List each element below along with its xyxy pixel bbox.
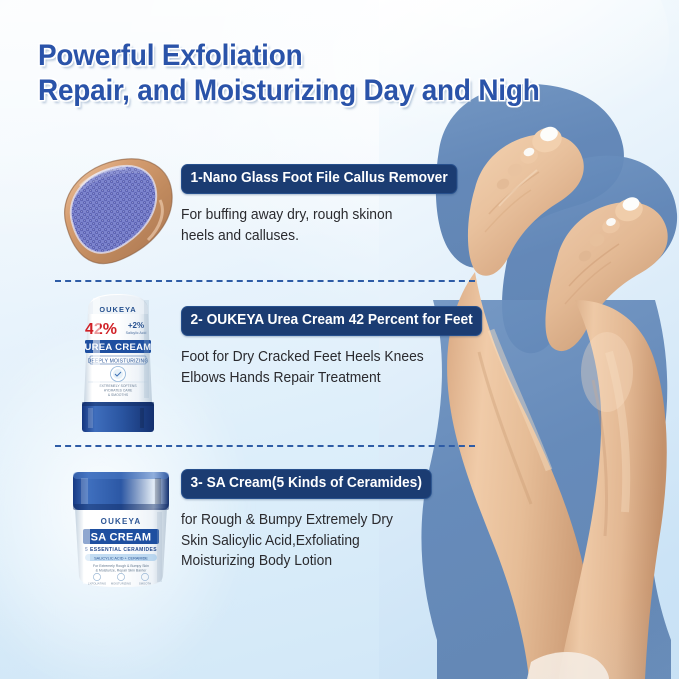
product-3-copy: 3- SA Cream(5 Kinds of Ceramides) for Ro… [181,469,445,572]
jar-claim-1: For Extremely Rough & Bumpy Skin [92,564,148,568]
page-title-line-2: Repair, and Moisturizing Day and Nigh [38,73,522,108]
product-3-description-line-3: Moisturizing Body Lotion [181,551,431,572]
jar-feature-1: EXFOLIATING [87,582,105,586]
product-1-title-badge[interactable]: 1-Nano Glass Foot File Callus Remover [181,164,457,194]
nano-glass-foot-file-image [55,152,175,272]
product-block-3: OUKEYA SA CREAM 5 ESSENTIAL CERAMIDES SA… [0,455,500,600]
tube-percent-plus-sub: Salicylic Acid [125,331,146,335]
jar-feature-3: SMOOTH [138,582,150,586]
tube-percent-plus: +2% [127,321,143,330]
product-1-description-line-1: For buffing away dry, rough skinon [181,205,457,226]
product-block-2: OUKEYA 42% +2% Salicylic Acid UREA CREAM… [0,290,500,435]
page-title: Powerful Exfoliation Repair, and Moistur… [38,38,522,108]
product-2-description-line-1: Foot for Dry Cracked Feet Heels Knees [181,347,482,368]
sa-cream-jar-image: OUKEYA SA CREAM 5 ESSENTIAL CERAMIDES SA… [58,463,183,593]
product-1-description: For buffing away dry, rough skinon heels… [181,205,457,246]
product-infographic: Powerful Exfoliation Repair, and Moistur… [0,0,679,679]
jar-product-name: SA CREAM [90,532,151,544]
tube-claim-3: & SMOOTHS [107,393,128,397]
tube-claim-1: EXTREMELY SOFTENS [99,384,137,388]
divider-1 [55,280,475,282]
jar-subtitle: 5 ESSENTIAL CERAMIDES [85,547,157,553]
jar-banner-text: SALICYLIC ACID + CERAMIDE [94,556,148,560]
product-3-title-badge[interactable]: 3- SA Cream(5 Kinds of Ceramides) [181,469,431,499]
product-1-copy: 1-Nano Glass Foot File Callus Remover Fo… [181,164,472,246]
page-title-line-1: Powerful Exfoliation [38,38,522,73]
jar-brand-text: OUKEYA [100,517,141,526]
product-2-description-line-2: Elbows Hands Repair Treatment [181,368,482,389]
product-3-description-line-2: Skin Salicylic Acid,Exfoliating [181,531,431,552]
urea-cream-tube-image: OUKEYA 42% +2% Salicylic Acid UREA CREAM… [60,290,175,435]
jar-claim-2: & Moisturize, Repair Skin Barrier [95,569,147,573]
product-3-description-line-1: for Rough & Bumpy Extremely Dry [181,510,431,531]
tube-brand-text: OUKEYA [99,305,136,314]
tube-claim-2: HYDRATES CARE [103,389,132,393]
product-1-description-line-2: heels and calluses. [181,226,457,247]
tube-percent-main: 42% [84,321,116,338]
divider-2 [55,445,475,447]
product-2-description: Foot for Dry Cracked Feet Heels Knees El… [181,347,482,388]
jar-feature-2: MOISTURIZING [110,582,130,586]
product-block-1: 1-Nano Glass Foot File Callus Remover Fo… [0,150,500,275]
product-2-copy: 2- OUKEYA Urea Cream 42 Percent for Feet… [181,306,498,388]
product-3-description: for Rough & Bumpy Extremely Dry Skin Sal… [181,510,431,572]
product-2-title-badge[interactable]: 2- OUKEYA Urea Cream 42 Percent for Feet [181,306,482,336]
